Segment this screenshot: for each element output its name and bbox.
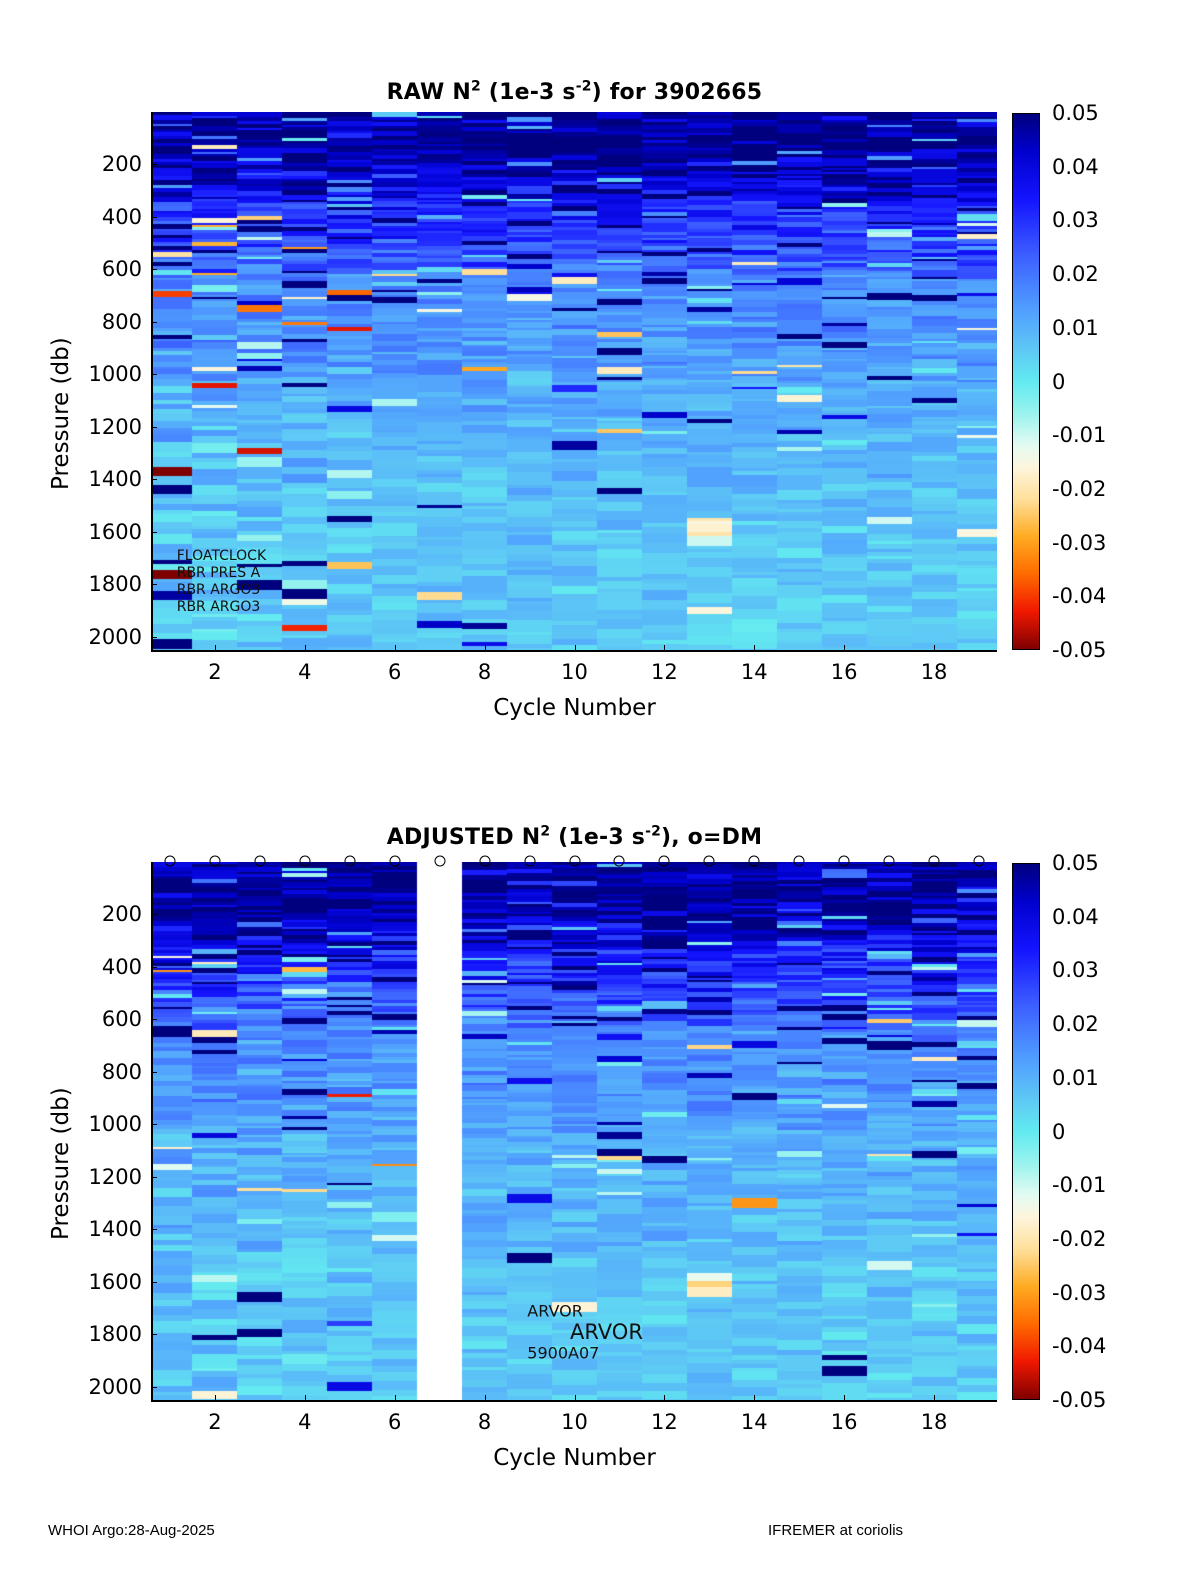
- raw-xtick-label: 10: [561, 660, 588, 684]
- raw-ytick-label: 1800: [50, 572, 142, 596]
- adjusted-heatmap-plot[interactable]: [152, 862, 997, 1400]
- title-text-suffix: ) for 3902665: [592, 80, 763, 105]
- raw-colorbar-tick-label: -0.01: [1052, 423, 1106, 447]
- adjusted-colorbar-tick-label: 0.01: [1052, 1066, 1099, 1090]
- raw-colorbar-tick-label: 0.03: [1052, 208, 1099, 232]
- raw-colorbar-tick-label: -0.02: [1052, 477, 1106, 501]
- adjusted-colorbar-tick-label: 0.05: [1052, 851, 1099, 875]
- raw-colorbar-tick-label: -0.03: [1052, 531, 1106, 555]
- adjusted-colorbar-tick-label: 0: [1052, 1120, 1065, 1144]
- raw-colorbar-tick-label: 0.01: [1052, 316, 1099, 340]
- raw-xtick-label: 18: [921, 660, 948, 684]
- adjusted-xtick-label: 14: [741, 1410, 768, 1434]
- adjusted-ytick-label: 400: [50, 955, 142, 979]
- adjusted-bottom-spine: [151, 1400, 997, 1402]
- title2-superscript-s2: -2: [645, 824, 661, 840]
- adjusted-yaxis-title: Pressure (db): [48, 1087, 74, 1240]
- raw-colorbar-tick-label: 0.04: [1052, 155, 1099, 179]
- raw-xtick-label: 14: [741, 660, 768, 684]
- raw-xtick-label: 6: [388, 660, 401, 684]
- raw-ytick-label: 1600: [50, 520, 142, 544]
- raw-xtick-label: 2: [208, 660, 221, 684]
- adjusted-ytick-label: 200: [50, 902, 142, 926]
- adjusted-xtick-label: 4: [298, 1410, 311, 1434]
- adjusted-xtick-label: 8: [478, 1410, 491, 1434]
- adjusted-colorbar-tick-label: -0.02: [1052, 1227, 1106, 1251]
- adjusted-xtick-label: 2: [208, 1410, 221, 1434]
- adjusted-ytick-label: 1600: [50, 1270, 142, 1294]
- panel-raw-title: RAW N2 (1e-3 s-2) for 3902665: [152, 80, 997, 105]
- raw-xtick-label: 4: [298, 660, 311, 684]
- raw-ytick-label: 2000: [50, 625, 142, 649]
- adjusted-colorbar-tick-label: 0.02: [1052, 1012, 1099, 1036]
- raw-colorbar-tick-label: 0: [1052, 370, 1065, 394]
- raw-colorbar-tick-label: 0.05: [1052, 101, 1099, 125]
- footer-right-credit: IFREMER at coriolis: [768, 1522, 903, 1539]
- adjusted-ytick-label: 600: [50, 1007, 142, 1031]
- adjusted-colorbar[interactable]: [1012, 863, 1040, 1400]
- adjusted-xtick-label: 10: [561, 1410, 588, 1434]
- raw-ytick-label: 800: [50, 310, 142, 334]
- raw-bottom-spine: [151, 650, 997, 652]
- adjusted-ytick-label: 800: [50, 1060, 142, 1084]
- title-text-mid: (1e-3 s: [481, 80, 576, 105]
- title-superscript-s2: -2: [576, 79, 592, 95]
- title2-text-mid: (1e-3 s: [550, 825, 645, 850]
- adjusted-ytick-label: 2000: [50, 1375, 142, 1399]
- title-superscript-n2: 2: [471, 79, 481, 95]
- title2-superscript-n2: 2: [540, 824, 550, 840]
- raw-xtick-label: 12: [651, 660, 678, 684]
- raw-colorbar[interactable]: [1012, 113, 1040, 650]
- adjusted-xtick-label: 16: [831, 1410, 858, 1434]
- title-text-prefix: RAW N: [387, 80, 471, 105]
- raw-yaxis-title: Pressure (db): [48, 337, 74, 490]
- raw-xtick-label: 8: [478, 660, 491, 684]
- adjusted-colorbar-tick-label: -0.03: [1052, 1281, 1106, 1305]
- adjusted-colorbar-tick-label: -0.05: [1052, 1388, 1106, 1412]
- title2-text-suffix: ), o=DM: [661, 825, 762, 850]
- raw-heatmap-canvas: [152, 112, 997, 650]
- raw-xaxis-title: Cycle Number: [152, 695, 997, 721]
- adjusted-colorbar-tick-label: 0.04: [1052, 905, 1099, 929]
- adjusted-xtick-label: 18: [921, 1410, 948, 1434]
- raw-heatmap-plot[interactable]: [152, 112, 997, 650]
- footer-left-credit: WHOI Argo:28-Aug-2025: [48, 1522, 215, 1539]
- adjusted-heatmap-canvas: [152, 862, 997, 1400]
- title2-text-prefix: ADJUSTED N: [387, 825, 541, 850]
- adjusted-colorbar-tick-label: -0.04: [1052, 1334, 1106, 1358]
- adjusted-xtick-label: 6: [388, 1410, 401, 1434]
- adjusted-ytick-label: 1800: [50, 1322, 142, 1346]
- adjusted-xtick-label: 12: [651, 1410, 678, 1434]
- adjusted-colorbar-tick-label: -0.01: [1052, 1173, 1106, 1197]
- raw-xtick-label: 16: [831, 660, 858, 684]
- panel-adjusted-title: ADJUSTED N2 (1e-3 s-2), o=DM: [152, 825, 997, 850]
- raw-colorbar-tick-label: 0.02: [1052, 262, 1099, 286]
- adjusted-colorbar-tick-label: 0.03: [1052, 958, 1099, 982]
- raw-colorbar-tick-label: -0.04: [1052, 584, 1106, 608]
- raw-colorbar-tick-label: -0.05: [1052, 638, 1106, 662]
- raw-ytick-label: 600: [50, 257, 142, 281]
- raw-ytick-label: 200: [50, 152, 142, 176]
- adjusted-xaxis-title: Cycle Number: [152, 1445, 997, 1471]
- raw-ytick-label: 400: [50, 205, 142, 229]
